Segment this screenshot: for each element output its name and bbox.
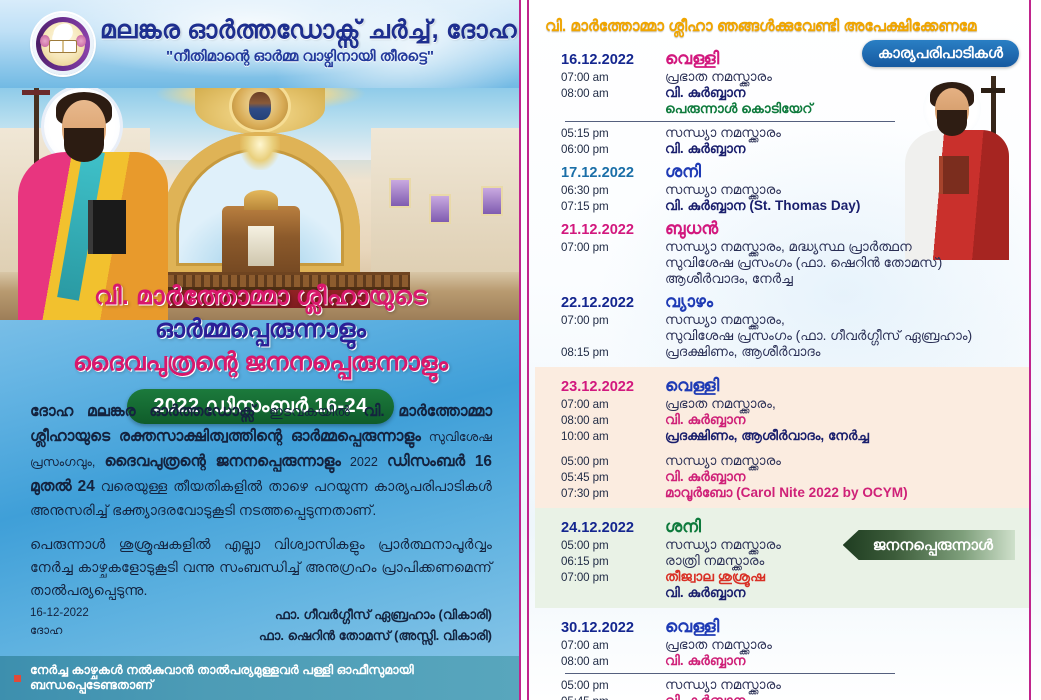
event-description: വി. കുർബ്ബാന — [665, 693, 746, 700]
event-description: സുവിശേഷ പ്രസംഗം (ഫാ. ഷെറിൻ തോമസ്) — [665, 255, 942, 271]
wall-picture — [481, 186, 503, 216]
right-panel-left-border — [527, 0, 529, 700]
schedule-section-inner: 16.12.2022വെള്ളി07:00 amപ്രഭാത നമസ്ക്കാര… — [535, 42, 1029, 363]
event-description: സന്ധ്യാ നമസ്ക്കാരം — [665, 537, 781, 553]
schedule-spacer — [561, 444, 1023, 453]
event-time: 06:15 pm — [561, 555, 665, 568]
event-description: പ്രദക്ഷിണം, ആശീർവാദം, നേർച്ച — [665, 428, 869, 444]
side-wall-right — [371, 128, 521, 288]
signature-left: 16-12-2022 ദോഹ — [30, 605, 89, 647]
event-description: മാവൂർബോ (Carol Nite 2022 by OCYM) — [665, 485, 908, 501]
footer-note: നേർച്ച കാഴ്ചകൾ നൽകുവാൻ താൽപര്യമുള്ളവർ പള… — [30, 663, 521, 693]
open-book-icon — [49, 40, 77, 53]
schedule-section: 16.12.2022വെള്ളി07:00 amപ്രഭാത നമസ്ക്കാര… — [535, 40, 1029, 367]
schedule-event-row: 07:15 pmവി. കുർബ്ബാന (St. Thomas Day) — [561, 198, 1023, 214]
schedule-date: 21.12.2022 — [561, 222, 665, 238]
event-time: 08:15 pm — [561, 346, 665, 359]
schedule-date: 24.12.2022 — [561, 520, 665, 536]
event-description: വി. കുർബ്ബാന — [665, 141, 746, 157]
bullet-icon — [14, 675, 21, 682]
event-time: 07:00 am — [561, 398, 665, 411]
schedule-event-row: 08:00 amവി. കുർബ്ബാന — [561, 85, 1023, 101]
event-time: 05:15 pm — [561, 127, 665, 140]
schedule-event-row: 05:45 pmവി. കുർബ്ബാന — [561, 469, 1023, 485]
event-time: 05:45 pm — [561, 695, 665, 700]
p1-h: വരെയുള്ള തീയതികളിൽ താഴെ പറയുന്ന കാര്യപരി… — [30, 479, 492, 519]
signature-date: 16-12-2022 — [30, 605, 89, 623]
schedule-event-row: സുവിശേഷ പ്രസംഗം (ഫാ. ഗീവർഗ്ഗീസ് ഏബ്രഹാം) — [561, 328, 1023, 344]
schedule-event-row: ആശീർവാദം, നേർച്ച — [561, 271, 1023, 287]
beard — [64, 128, 104, 162]
event-description: വി. കുർബ്ബാന — [665, 585, 746, 601]
schedule-event-row: 05:00 pmസന്ധ്യാ നമസ്ക്കാരം — [561, 677, 1023, 693]
p1-a: ദോഹ മലങ്കര ഓർത്തഡോക്സ് — [30, 403, 269, 420]
event-description: സന്ധ്യാ നമസ്ക്കാരം — [665, 677, 781, 693]
wall-picture — [389, 178, 411, 208]
event-time: 07:00 pm — [561, 314, 665, 327]
cross-icon — [22, 90, 50, 95]
schedule-day-name: വ്യാഴം — [665, 292, 713, 312]
schedule-event-row: 05:45 pmവി. കുർബ്ബാന — [561, 693, 1023, 700]
schedule-day-name: ബുധൻ — [665, 219, 718, 239]
event-description: പ്രഭാത നമസ്ക്കാരം — [665, 69, 772, 85]
schedule-event-row: 08:15 pmപ്രദക്ഷിണം, ആശീർവാദം — [561, 344, 1023, 360]
schedule-event-row: 08:00 amവി. കുർബ്ബാന — [561, 653, 1023, 669]
schedule-event-row: 05:00 pmസന്ധ്യാ നമസ്ക്കാരം — [561, 453, 1023, 469]
event-description: രാത്രി നമസ്ക്കാരം — [665, 553, 764, 569]
schedule-section: 30.12.2022വെള്ളി07:00 amപ്രഭാത നമസ്ക്കാര… — [535, 608, 1029, 700]
nativity-ribbon: ജനനപ്പെരുന്നാൾ — [843, 530, 1015, 560]
flyer-page: മലങ്കര ഓർത്തഡോക്സ് ചർച്ച്, ദോഹ "നീതിമാന്… — [0, 0, 1041, 700]
event-time: 07:00 pm — [561, 571, 665, 584]
right-panel: വി. മാർത്തോമ്മാ ശ്ലീഹാ ഞങ്ങൾക്കുവേണ്ടി അ… — [521, 0, 1041, 700]
church-name: മലങ്കര ഓർത്തഡോക്സ് ചർച്ച്, ദോഹ — [100, 16, 500, 45]
event-time: 06:00 pm — [561, 143, 665, 156]
event-description: സന്ധ്യാ നമസ്ക്കാരം — [665, 125, 781, 141]
event-description: വി. കുർബ്ബാന — [665, 412, 746, 428]
schedule-date: 16.12.2022 — [561, 52, 665, 68]
event-description: പ്രഭാത നമസ്ക്കാരം — [665, 637, 772, 653]
schedule-event-row: 06:30 pmസന്ധ്യാ നമസ്ക്കാരം — [561, 182, 1023, 198]
event-description: സന്ധ്യാ നമസ്ക്കാരം — [665, 182, 781, 198]
event-description: വി. കുർബ്ബാന — [665, 469, 746, 485]
event-time: 07:15 pm — [561, 200, 665, 213]
event-time: 05:00 pm — [561, 539, 665, 552]
event-time: 07:00 am — [561, 71, 665, 84]
p1-f: 2022 — [341, 455, 387, 469]
signature-place: ദോഹ — [30, 623, 89, 641]
left-panel: മലങ്കര ഓർത്തഡോക്സ് ചർച്ച്, ദോഹ "നീതിമാന്… — [0, 0, 521, 700]
wall-picture — [429, 194, 451, 224]
schedule-event-row: 07:00 pmതീജ്വാല ശുശ്രൂഷ — [561, 569, 1023, 585]
event-time: 10:00 am — [561, 430, 665, 443]
paragraph-2: പെരുന്നാൾ ശുശ്രൂഷകളിൽ എല്ലാ വിശ്വാസികളും… — [30, 534, 492, 603]
paragraph-1: ദോഹ മലങ്കര ഓർത്തഡോക്സ് ഇടവകയിൽ വി. മാർത്… — [30, 400, 492, 523]
event-description: ആശീർവാദം, നേർച്ച — [665, 271, 793, 287]
event-description: വി. കുർബ്ബാന — [665, 85, 746, 101]
event-time: 05:00 pm — [561, 679, 665, 692]
event-description: വി. കുർബ്ബാന (St. Thomas Day) — [665, 198, 860, 214]
headline-line-3: ദൈവപുത്രന്റെ ജനനപ്പെരുന്നാളും — [0, 348, 521, 377]
schedule-event-row: 10:00 amപ്രദക്ഷിണം, ആശീർവാദം, നേർച്ച — [561, 428, 1023, 444]
schedule-event-row: 07:30 pmമാവൂർബോ (Carol Nite 2022 by OCYM… — [561, 485, 1023, 501]
schedule-event-row: 07:00 pmസന്ധ്യാ നമസ്ക്കാരം, — [561, 312, 1023, 328]
event-time: 08:00 am — [561, 87, 665, 100]
schedule-section: 23.12.2022വെള്ളി07:00 amപ്രഭാത നമസ്ക്കാര… — [535, 367, 1029, 508]
p1-b: ഇടവകയിൽ — [269, 404, 364, 420]
event-time: 05:45 pm — [561, 471, 665, 484]
event-time: 05:00 pm — [561, 455, 665, 468]
schedule-list: 16.12.2022വെള്ളി07:00 amപ്രഭാത നമസ്ക്കാര… — [535, 40, 1029, 700]
schedule-event-row: 05:15 pmസന്ധ്യാ നമസ്ക്കാരം — [561, 125, 1023, 141]
event-time: 07:00 am — [561, 639, 665, 652]
schedule-event-row: 08:00 amവി. കുർബ്ബാന — [561, 412, 1023, 428]
signature-right: ഫാ. ഗീവർഗ്ഗീസ് ഏബ്രഹാം (വികാരി) ഫാ. ഷെറി… — [259, 605, 492, 647]
event-description: പെരുന്നാൾ കൊടിയേറ് — [665, 101, 813, 117]
signature-block: 16-12-2022 ദോഹ ഫാ. ഗീവർഗ്ഗീസ് ഏബ്രഹാം (വ… — [30, 605, 492, 647]
schedule-event-row: പെരുന്നാൾ കൊടിയേറ് — [561, 101, 1023, 117]
church-crest-icon — [32, 13, 94, 75]
schedule-day-header: 30.12.2022വെള്ളി — [561, 617, 1023, 637]
schedule-section: 24.12.2022ശനി05:00 pmസന്ധ്യാ നമസ്ക്കാരം0… — [535, 508, 1029, 608]
event-description: സന്ധ്യാ നമസ്ക്കാരം, മദ്ധ്യസ്ഥ പ്രാർത്ഥന — [665, 239, 912, 255]
schedule-day-header: 17.12.2022ശനി — [561, 162, 1023, 182]
schedule-day-name: വെള്ളി — [665, 617, 719, 637]
schedule-day-name: ശനി — [665, 517, 701, 537]
schedule-section-inner: 30.12.2022വെള്ളി07:00 amപ്രഭാത നമസ്ക്കാര… — [535, 610, 1029, 700]
right-panel-right-border — [1029, 0, 1031, 700]
schedule-event-row: 07:00 pmസന്ധ്യാ നമസ്ക്കാരം, മദ്ധ്യസ്ഥ പ്… — [561, 239, 1023, 255]
schedule-day-name: വെള്ളി — [665, 376, 719, 396]
headline-line-1: വി. മാർത്തോമ്മാ ശ്ലീഹായുടെ — [0, 282, 521, 311]
event-description: പ്രദക്ഷിണം, ആശീർവാദം — [665, 344, 820, 360]
schedule-event-row: 07:00 amപ്രഭാത നമസ്ക്കാരം, — [561, 396, 1023, 412]
schedule-day-header: 21.12.2022ബുധൻ — [561, 219, 1023, 239]
schedule-date: 17.12.2022 — [561, 165, 665, 181]
event-description: സന്ധ്യാ നമസ്ക്കാരം — [665, 453, 781, 469]
schedule-date: 30.12.2022 — [561, 620, 665, 636]
event-time: 08:00 am — [561, 655, 665, 668]
p1-e: ദൈവപുത്രന്റെ ജനനപ്പെരുന്നാളും — [104, 453, 340, 470]
schedule-event-row: 07:00 amപ്രഭാത നമസ്ക്കാരം — [561, 637, 1023, 653]
event-description: വി. കുർബ്ബാന — [665, 653, 746, 669]
announcement-body: ദോഹ മലങ്കര ഓർത്തഡോക്സ് ഇടവകയിൽ വി. മാർത്… — [30, 400, 492, 614]
scripture-book-icon — [88, 200, 126, 254]
assistant-vicar-name: ഫാ. ഷെറിൻ തോമസ് (അസ്സി. വികാരി) — [259, 626, 492, 647]
schedule-day-name: ശനി — [665, 162, 701, 182]
chandelier-icon — [240, 136, 280, 170]
schedule-section-inner: 23.12.2022വെള്ളി07:00 amപ്രഭാത നമസ്ക്കാര… — [535, 369, 1029, 504]
event-time: 08:00 am — [561, 414, 665, 427]
schedule-event-row: 07:00 amപ്രഭാത നമസ്ക്കാരം — [561, 69, 1023, 85]
schedule-day-header: 16.12.2022വെള്ളി — [561, 49, 1023, 69]
schedule-date: 22.12.2022 — [561, 295, 665, 311]
event-time: 07:30 pm — [561, 487, 665, 500]
schedule-day-header: 23.12.2022വെള്ളി — [561, 376, 1023, 396]
schedule-event-row: സുവിശേഷ പ്രസംഗം (ഫാ. ഷെറിൻ തോമസ്) — [561, 255, 1023, 271]
event-description: പ്രഭാത നമസ്ക്കാരം, — [665, 396, 776, 412]
schedule-event-row: 06:00 pmവി. കുർബ്ബാന — [561, 141, 1023, 157]
event-description: സന്ധ്യാ നമസ്ക്കാരം, — [665, 312, 785, 328]
vicar-name: ഫാ. ഗീവർഗ്ഗീസ് ഏബ്രഹാം (വികാരി) — [259, 605, 492, 626]
church-motto: "നീതിമാന്റെ ഓർമ്മ വാഴ്വിനായി തീരട്ടെ" — [100, 48, 500, 65]
event-time: 07:00 pm — [561, 241, 665, 254]
schedule-day-header: 22.12.2022വ്യാഴം — [561, 292, 1023, 312]
schedule-day-name: വെള്ളി — [665, 49, 719, 69]
schedule-divider — [565, 673, 895, 674]
headline-line-2: ഓർമ്മപ്പെരുന്നാളും — [0, 315, 521, 344]
footer-bar: നേർച്ച കാഴ്ചകൾ നൽകുവാൻ താൽപര്യമുള്ളവർ പള… — [0, 656, 521, 700]
event-description: തീജ്വാല ശുശ്രൂഷ — [665, 569, 765, 585]
crest-leaf-right — [76, 35, 86, 47]
schedule-divider — [565, 121, 895, 122]
schedule-date: 23.12.2022 — [561, 379, 665, 395]
event-time: 06:30 pm — [561, 184, 665, 197]
schedule-event-row: വി. കുർബ്ബാന — [561, 585, 1023, 601]
event-description: സുവിശേഷ പ്രസംഗം (ഫാ. ഗീവർഗ്ഗീസ് ഏബ്രഹാം) — [665, 328, 972, 344]
intercession-header: വി. മാർത്തോമ്മാ ശ്ലീഹാ ഞങ്ങൾക്കുവേണ്ടി അ… — [545, 18, 1023, 36]
